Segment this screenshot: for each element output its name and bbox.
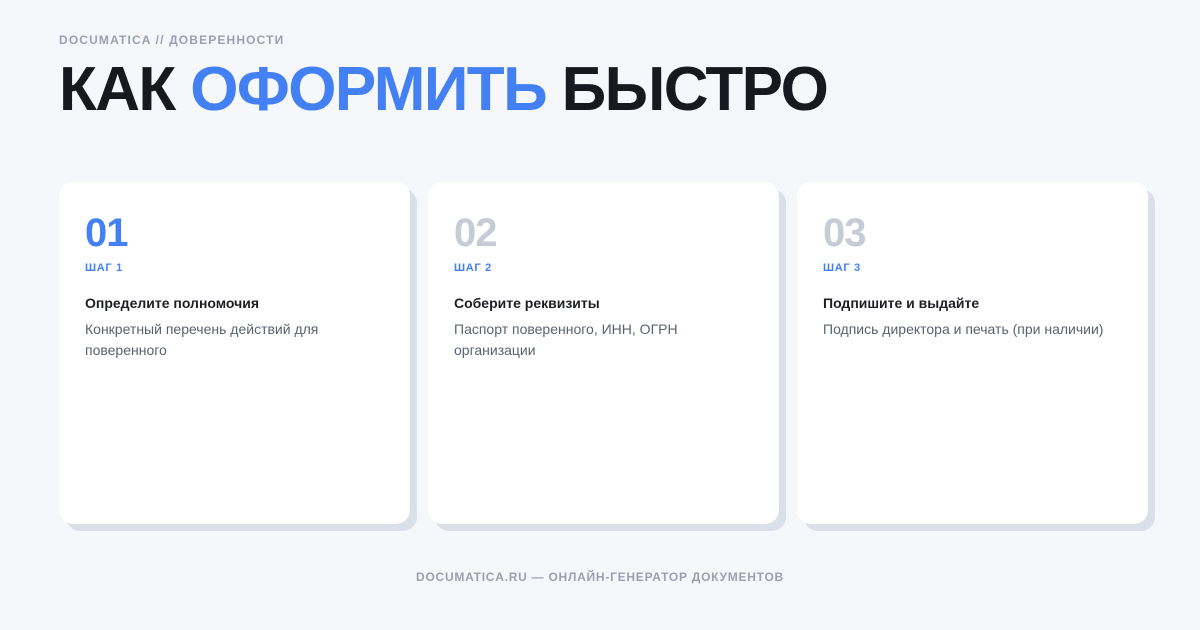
card-surface: 01 ШАГ 1 Определите полномочия Конкретны…: [59, 182, 410, 524]
step-number: 02: [454, 212, 753, 254]
page-header: DOCUMATICA // ДОВЕРЕННОСТИ КАК ОФОРМИТЬ …: [59, 32, 1149, 165]
step-card-2: 02 ШАГ 2 Соберите реквизиты Паспорт пове…: [428, 182, 779, 524]
step-title: Определите полномочия: [85, 294, 384, 312]
card-surface: 03 ШАГ 3 Подпишите и выдайте Подпись дир…: [797, 182, 1148, 524]
step-label: ШАГ 3: [823, 261, 1122, 275]
step-label: ШАГ 2: [454, 261, 753, 275]
step-description: Подпись директора и печать (при наличии): [823, 319, 1108, 340]
steps-card-list: 01 ШАГ 1 Определите полномочия Конкретны…: [59, 182, 1148, 532]
step-number: 01: [85, 212, 384, 254]
step-title: Соберите реквизиты: [454, 294, 753, 312]
page-title: КАК ОФОРМИТЬ БЫСТРО: [59, 57, 1149, 123]
headline-segment-trailing: БЫСТРО: [546, 55, 827, 124]
infographic-page: DOCUMATICA // ДОВЕРЕННОСТИ КАК ОФОРМИТЬ …: [0, 0, 1200, 630]
step-label: ШАГ 1: [85, 261, 384, 275]
step-card-1: 01 ШАГ 1 Определите полномочия Конкретны…: [59, 182, 410, 524]
headline-segment-accent: ОФОРМИТЬ: [190, 55, 546, 124]
footer-attribution: DOCUMATICA.RU — ОНЛАЙН-ГЕНЕРАТОР ДОКУМЕН…: [0, 568, 1200, 586]
step-number: 03: [823, 212, 1122, 254]
card-surface: 02 ШАГ 2 Соберите реквизиты Паспорт пове…: [428, 182, 779, 524]
step-description: Конкретный перечень действий для поверен…: [85, 319, 370, 361]
breadcrumb-eyebrow: DOCUMATICA // ДОВЕРЕННОСТИ: [59, 32, 1149, 48]
step-card-3: 03 ШАГ 3 Подпишите и выдайте Подпись дир…: [797, 182, 1148, 524]
step-description: Паспорт поверенного, ИНН, ОГРН организац…: [454, 319, 739, 361]
headline-segment-leading: КАК: [59, 55, 190, 124]
step-title: Подпишите и выдайте: [823, 294, 1122, 312]
